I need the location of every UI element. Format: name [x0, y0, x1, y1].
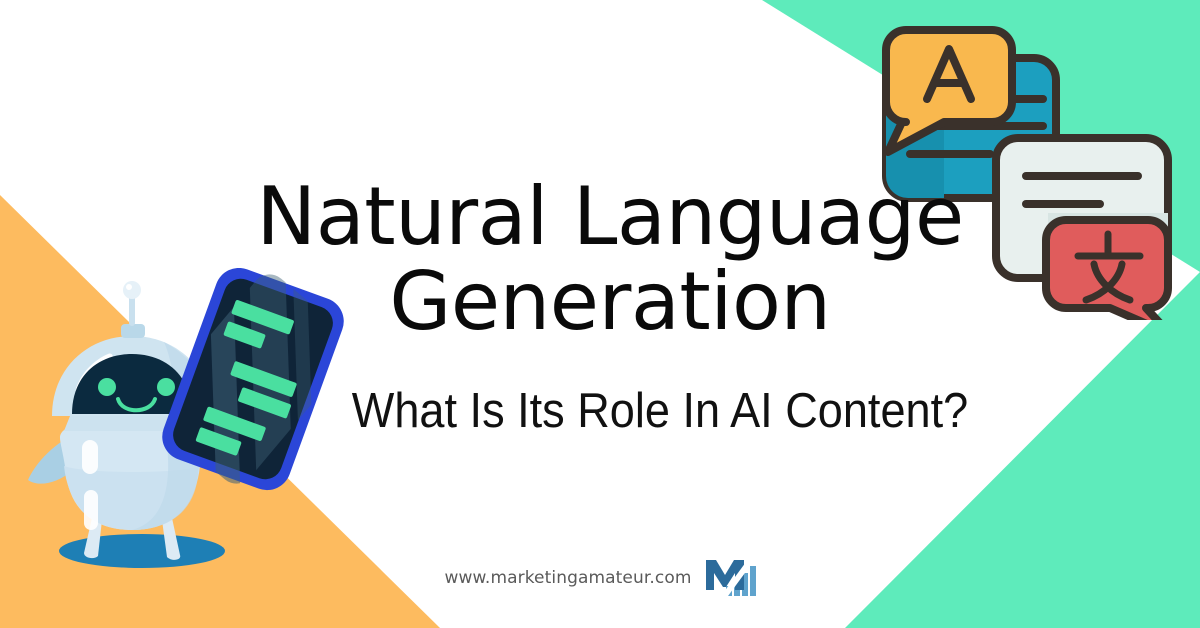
page-subtitle: What Is Its Role In AI Content?	[283, 385, 1037, 439]
bubble-red	[1046, 220, 1170, 320]
robot-body-lower-shade	[64, 466, 200, 530]
logo-bar-4	[750, 566, 756, 596]
robot-head-highlight	[76, 354, 113, 396]
page-title: Natural Language Generation	[210, 175, 1010, 345]
robot-leg-right	[162, 518, 180, 560]
bubble-white-shade	[1048, 213, 1168, 278]
headline-block: Natural Language Generation	[210, 175, 1010, 345]
robot-right-arm	[182, 408, 252, 466]
bubble-orange	[886, 30, 1012, 152]
robot-body-side-shade	[132, 422, 204, 530]
robot-left-arm	[28, 433, 96, 484]
robot-antenna-ball-shine	[126, 284, 132, 290]
footer: www.marketingamateur.com	[0, 558, 1200, 598]
bubble-orange-letter-a	[927, 49, 971, 99]
robot-antenna-stem	[129, 294, 135, 326]
robot-body-highlight-2	[84, 490, 98, 530]
marketing-amateur-logo-icon	[706, 558, 756, 598]
footer-website-url: www.marketingamateur.com	[444, 568, 691, 588]
robot-head	[52, 336, 212, 416]
robot-body	[60, 420, 204, 530]
tablet-code-line-6	[195, 427, 241, 456]
robot-antenna-ball	[123, 281, 141, 299]
robot-visor	[72, 354, 192, 414]
robot-eye-right	[157, 378, 175, 396]
robot-leg-left	[84, 518, 102, 558]
banner-canvas: Natural Language Generation What Is Its …	[0, 0, 1200, 628]
bubble-red-glyph-wen	[1078, 234, 1140, 300]
robot-head-shade	[164, 342, 212, 416]
robot-smile	[118, 399, 155, 410]
bubble-white	[996, 138, 1168, 278]
tablet-code-line-5	[203, 406, 266, 441]
robot-collar	[64, 411, 200, 431]
robot-antenna-base	[121, 324, 145, 338]
robot-eye-left	[98, 378, 116, 396]
robot-body-highlight-1	[82, 440, 98, 474]
